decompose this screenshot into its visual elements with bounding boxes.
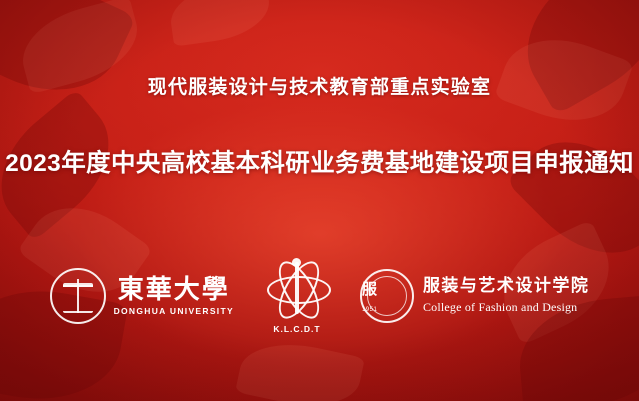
donghua-name-en: DONGHUA UNIVERSITY: [114, 306, 234, 316]
fashion-college-name-en: College of Fashion and Design: [423, 300, 590, 315]
decorative-leaves: [0, 0, 639, 401]
seal-glyph: 服: [362, 283, 412, 298]
figure-body-icon: [295, 262, 299, 314]
donghua-university-wordmark: 東華大學 DONGHUA UNIVERSITY: [114, 276, 234, 316]
poster-banner: 现代服装设计与技术教育部重点实验室 2023年度中央高校基本科研业务费基地建设项…: [0, 0, 639, 401]
atom-rings-icon: [265, 258, 329, 318]
logo-row: 東華大學 DONGHUA UNIVERSITY K.L.C.D.T 服 1951…: [0, 252, 639, 340]
title-block: 现代服装设计与技术教育部重点实验室 2023年度中央高校基本科研业务费基地建设项…: [0, 72, 639, 179]
lab-name-heading: 现代服装设计与技术教育部重点实验室: [0, 72, 639, 99]
fashion-college-logo: 服 1951 服装与艺术设计学院 College of Fashion and …: [360, 269, 590, 323]
donghua-university-logo: 東華大學 DONGHUA UNIVERSITY: [50, 268, 234, 324]
fashion-college-wordmark: 服装与艺术设计学院 College of Fashion and Design: [423, 277, 590, 315]
leaf-shape: [235, 333, 365, 401]
donghua-university-seal-icon: [50, 268, 106, 324]
seal-year: 1951: [362, 307, 412, 313]
klcdt-abbr-label: K.L.C.D.T: [260, 324, 334, 334]
poster-main-title: 2023年度中央高校基本科研业务费基地建设项目申报通知: [0, 144, 639, 179]
ring-shape: [267, 276, 331, 304]
vignette-overlay: [0, 0, 639, 401]
donghua-name-cn: 東華大學: [114, 276, 234, 303]
klcdt-lab-logo: K.L.C.D.T: [260, 258, 334, 334]
fashion-college-name-cn: 服装与艺术设计学院: [423, 277, 590, 296]
fashion-college-seal-icon: 服 1951: [360, 269, 414, 323]
leaf-shape: [167, 0, 274, 47]
